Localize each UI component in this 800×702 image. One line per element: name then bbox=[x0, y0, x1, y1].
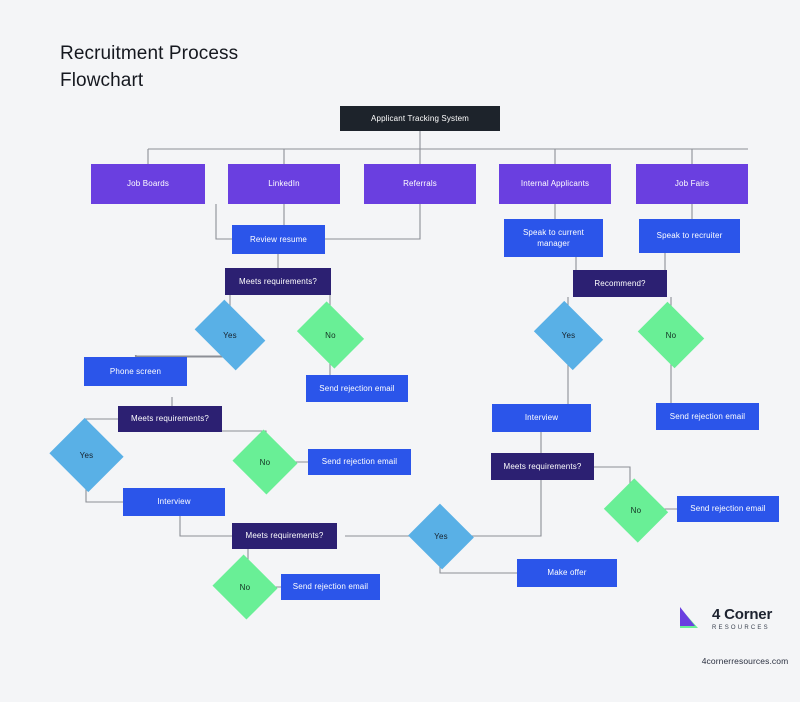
diamond-no-1[interactable]: No bbox=[304, 314, 357, 356]
node-label: Send rejection email bbox=[319, 384, 394, 394]
node-label: Meets requirements? bbox=[504, 462, 582, 472]
node-label: Meets requirements? bbox=[246, 531, 324, 541]
diamond-label: Yes bbox=[562, 331, 576, 340]
node-send-rejection-email-recommend[interactable]: Send rejection email bbox=[656, 403, 759, 430]
node-label: Meets requirements? bbox=[131, 414, 209, 424]
diamond-label: No bbox=[666, 331, 677, 340]
node-label: Internal Applicants bbox=[521, 179, 589, 189]
node-label: Interview bbox=[525, 413, 558, 423]
diamond-yes-2[interactable]: Yes bbox=[59, 430, 114, 480]
node-label: Send rejection email bbox=[690, 504, 765, 514]
node-label: Job Fairs bbox=[675, 179, 709, 189]
diamond-label: No bbox=[325, 331, 336, 340]
node-label: Speak to recruiter bbox=[657, 231, 723, 241]
node-send-rejection-email-1[interactable]: Send rejection email bbox=[306, 375, 408, 402]
flowchart-board: Recruitment Process Flowchart bbox=[20, 12, 780, 690]
node-speak-to-current-manager[interactable]: Speak to current manager bbox=[504, 219, 603, 257]
diamond-label: No bbox=[631, 506, 642, 515]
page-title: Recruitment Process Flowchart bbox=[60, 40, 420, 94]
node-label: Send rejection email bbox=[293, 582, 368, 592]
node-send-rejection-email-2[interactable]: Send rejection email bbox=[308, 449, 411, 475]
node-label: Applicant Tracking System bbox=[371, 114, 469, 124]
node-label: Send rejection email bbox=[670, 412, 745, 422]
node-internal-applicants[interactable]: Internal Applicants bbox=[499, 164, 611, 204]
node-label: Send rejection email bbox=[322, 457, 397, 467]
diamond-no-4[interactable]: No bbox=[612, 489, 660, 532]
node-job-fairs[interactable]: Job Fairs bbox=[636, 164, 748, 204]
diamond-no-3[interactable]: No bbox=[221, 565, 269, 609]
diamond-yes-1[interactable]: Yes bbox=[201, 314, 259, 356]
logo-subtitle: RESOURCES bbox=[712, 625, 772, 631]
diamond-label: Yes bbox=[434, 532, 448, 541]
node-label: Phone screen bbox=[110, 367, 161, 377]
flowchart-canvas: Recruitment Process Flowchart bbox=[0, 0, 800, 702]
node-referrals[interactable]: Referrals bbox=[364, 164, 476, 204]
diamond-yes-3[interactable]: Yes bbox=[417, 514, 465, 559]
brand-logo: 4 Corner RESOURCES bbox=[676, 604, 772, 634]
node-label: Review resume bbox=[250, 235, 307, 245]
node-recommend[interactable]: Recommend? bbox=[573, 270, 667, 297]
node-send-rejection-email-4[interactable]: Send rejection email bbox=[677, 496, 779, 522]
node-label: Recommend? bbox=[594, 279, 645, 289]
logo-text: 4 Corner RESOURCES bbox=[712, 607, 772, 631]
logo-name: 4 Corner bbox=[712, 607, 772, 622]
logo-mark-icon bbox=[676, 604, 706, 634]
node-label: LinkedIn bbox=[268, 179, 299, 189]
diamond-label: Yes bbox=[80, 451, 94, 460]
node-meets-requirements-1[interactable]: Meets requirements? bbox=[225, 268, 331, 295]
node-job-boards[interactable]: Job Boards bbox=[91, 164, 205, 204]
diamond-label: No bbox=[260, 458, 271, 467]
node-applicant-tracking-system[interactable]: Applicant Tracking System bbox=[340, 106, 500, 131]
node-meets-requirements-4[interactable]: Meets requirements? bbox=[491, 453, 594, 480]
node-make-offer[interactable]: Make offer bbox=[517, 559, 617, 587]
node-meets-requirements-3[interactable]: Meets requirements? bbox=[232, 523, 337, 549]
node-label: Job Boards bbox=[127, 179, 169, 189]
node-label: Speak to current manager bbox=[508, 227, 599, 249]
node-label: Make offer bbox=[547, 568, 586, 578]
node-label: Meets requirements? bbox=[239, 277, 317, 287]
diamond-label: Yes bbox=[223, 331, 237, 340]
node-speak-to-recruiter[interactable]: Speak to recruiter bbox=[639, 219, 740, 253]
diamond-no-2[interactable]: No bbox=[241, 440, 289, 484]
node-label: Interview bbox=[157, 497, 190, 507]
node-phone-screen[interactable]: Phone screen bbox=[84, 357, 187, 386]
diamond-no-recommend[interactable]: No bbox=[645, 314, 697, 356]
website-url: 4cornerresources.com bbox=[670, 656, 800, 666]
node-interview-right[interactable]: Interview bbox=[492, 404, 591, 432]
node-linkedin[interactable]: LinkedIn bbox=[228, 164, 340, 204]
node-interview-left[interactable]: Interview bbox=[123, 488, 225, 516]
node-review-resume[interactable]: Review resume bbox=[232, 225, 325, 254]
node-meets-requirements-2[interactable]: Meets requirements? bbox=[118, 406, 222, 432]
node-label: Referrals bbox=[403, 179, 437, 189]
diamond-label: No bbox=[240, 583, 251, 592]
diamond-yes-recommend[interactable]: Yes bbox=[541, 314, 596, 357]
node-send-rejection-email-3[interactable]: Send rejection email bbox=[281, 574, 380, 600]
